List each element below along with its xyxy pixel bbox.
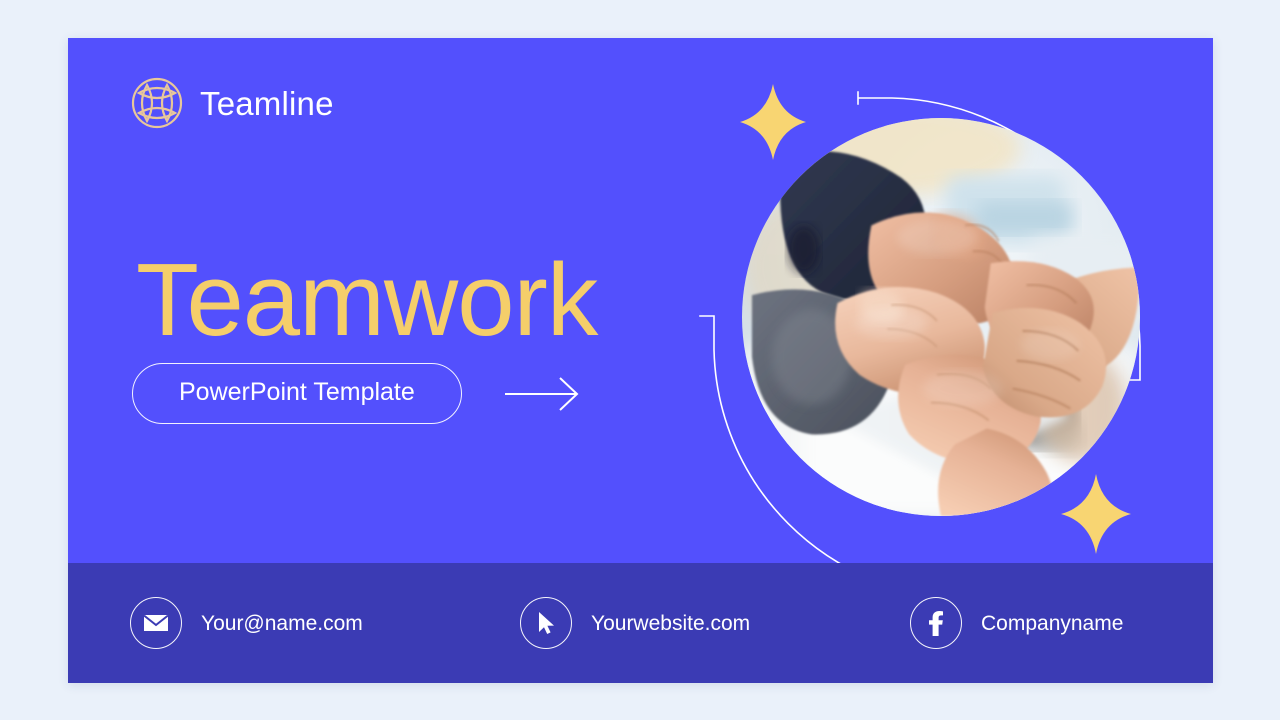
slide-footer: Your@name.com Yourwebsite.com Companynam…: [68, 563, 1213, 683]
contact-email-label: Your@name.com: [201, 613, 363, 634]
powerpoint-template-button[interactable]: PowerPoint Template: [132, 363, 462, 424]
contact-facebook[interactable]: Companyname: [910, 597, 1123, 649]
cursor-pointer-icon: [520, 597, 572, 649]
contact-website-label: Yourwebsite.com: [591, 613, 750, 634]
page-title: Teamwork: [136, 246, 597, 354]
four-point-sparkle-icon: [740, 84, 806, 160]
hero-photo-circle: [742, 118, 1140, 516]
facebook-icon: [910, 597, 962, 649]
contact-facebook-label: Companyname: [981, 613, 1123, 634]
envelope-icon: [130, 597, 182, 649]
contact-email[interactable]: Your@name.com: [130, 597, 520, 649]
contact-website[interactable]: Yourwebsite.com: [520, 597, 910, 649]
teamline-circle-petals-logo-icon: [130, 76, 184, 130]
arrow-right-icon[interactable]: [504, 375, 582, 413]
presentation-slide: Teamline Teamwork PowerPoint Template: [68, 38, 1213, 683]
teamwork-hands-photo: [742, 118, 1140, 516]
four-point-sparkle-icon: [1061, 474, 1131, 554]
brand-logo[interactable]: Teamline: [130, 76, 334, 130]
brand-name: Teamline: [200, 87, 334, 120]
cta-row: PowerPoint Template: [132, 363, 582, 424]
